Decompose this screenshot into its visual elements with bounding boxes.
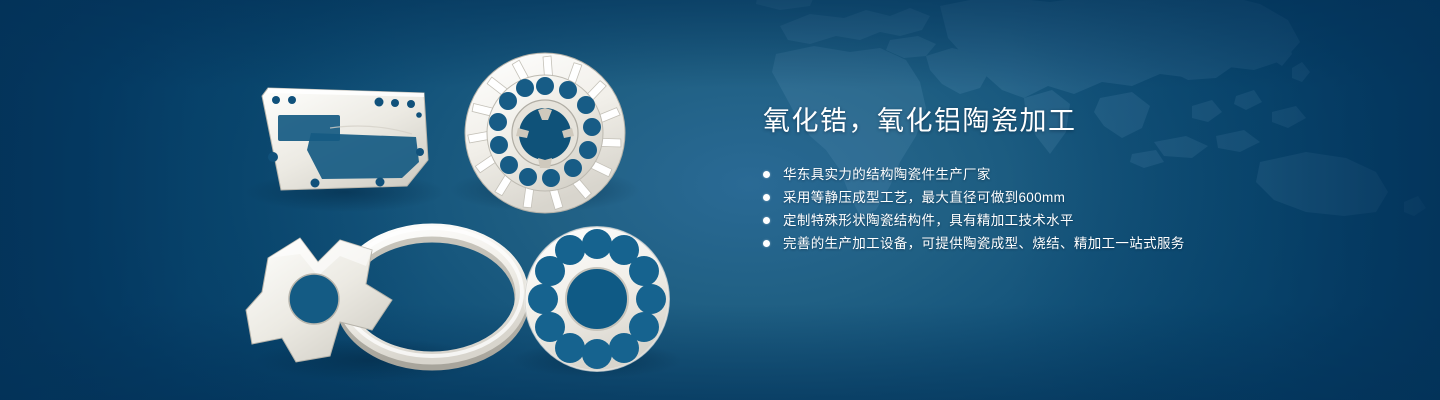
list-item: 完善的生产加工设备，可提供陶瓷成型、烧结、精加工一站式服务 (763, 232, 1303, 255)
banner-text-block: 氧化锆，氧化铝陶瓷加工 华东具实力的结构陶瓷件生产厂家 采用等静压成型工艺，最大… (763, 104, 1303, 255)
bullet-dot-icon (763, 240, 770, 247)
list-item: 华东具实力的结构陶瓷件生产厂家 (763, 163, 1303, 186)
ceramic-perforated-disc (525, 227, 669, 371)
list-item: 定制特殊形状陶瓷结构件，具有精加工技术水平 (763, 209, 1303, 232)
product-photo-group (0, 0, 720, 400)
ceramic-machined-plate (262, 88, 428, 190)
list-item-label: 华东具实力的结构陶瓷件生产厂家 (783, 163, 991, 186)
list-item-label: 定制特殊形状陶瓷结构件，具有精加工技术水平 (783, 209, 1074, 232)
feature-list: 华东具实力的结构陶瓷件生产厂家 采用等静压成型工艺，最大直径可做到600mm 定… (763, 163, 1303, 255)
ceramic-vaned-impeller (465, 53, 625, 213)
bullet-dot-icon (763, 194, 770, 201)
list-item-label: 采用等静压成型工艺，最大直径可做到600mm (783, 186, 1065, 209)
list-item-label: 完善的生产加工设备，可提供陶瓷成型、烧结、精加工一站式服务 (783, 232, 1185, 255)
promotional-banner: 氧化锆，氧化铝陶瓷加工 华东具实力的结构陶瓷件生产厂家 采用等静压成型工艺，最大… (0, 0, 1440, 400)
bullet-dot-icon (763, 217, 770, 224)
bullet-dot-icon (763, 171, 770, 178)
page-title: 氧化锆，氧化铝陶瓷加工 (763, 104, 1303, 138)
list-item: 采用等静压成型工艺，最大直径可做到600mm (763, 186, 1303, 209)
